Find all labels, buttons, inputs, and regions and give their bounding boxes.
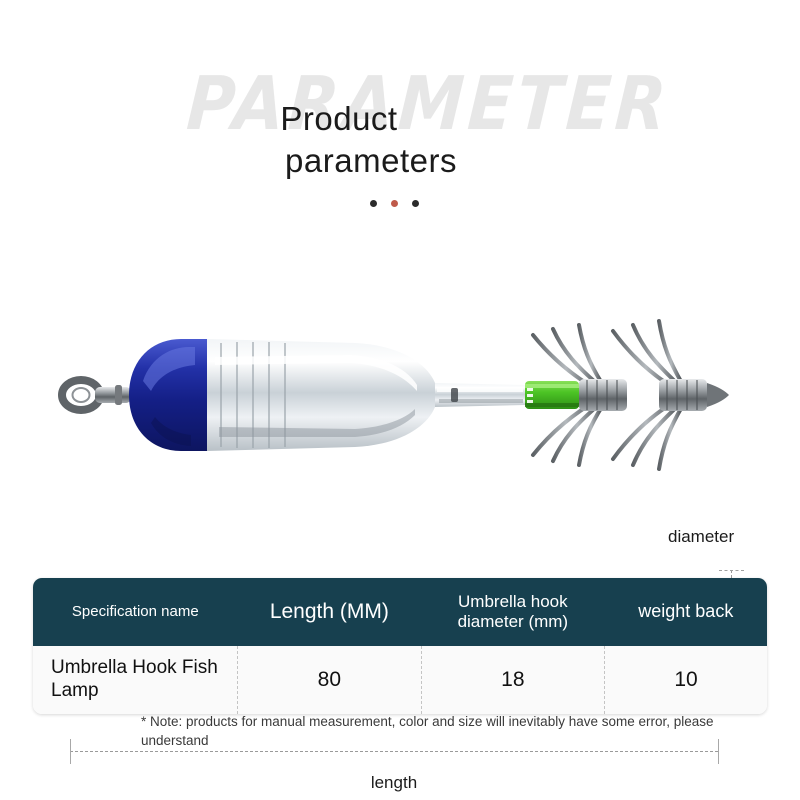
clear-ribbed-body — [207, 339, 435, 451]
eyelet-ring — [62, 380, 131, 410]
product-parameters-page: PARAMETER Product parameters — [0, 0, 800, 800]
diameter-cap-top — [719, 570, 744, 571]
page-title-line-2: parameters — [0, 140, 800, 182]
product-figure: diameter length — [0, 255, 800, 555]
table-body: Umbrella Hook Fish Lamp 80 18 10 — [33, 646, 767, 714]
decorative-dots — [0, 200, 800, 207]
specification-table: Specification name Length (MM) Umbrella … — [33, 578, 767, 714]
dot-right — [412, 200, 419, 207]
page-header: PARAMETER Product parameters — [0, 40, 800, 230]
green-band — [525, 381, 579, 409]
dot-center-accent — [391, 200, 398, 207]
table-header: Specification name Length (MM) Umbrella … — [33, 578, 767, 646]
length-cap-left — [70, 739, 71, 764]
squid-jig-lure-illustration — [55, 295, 745, 495]
page-title: Product parameters — [0, 98, 800, 182]
diameter-dimension-label: diameter — [668, 527, 734, 547]
column-header-length: Length (MM) — [238, 578, 422, 646]
column-header-specification-name: Specification name — [33, 578, 238, 646]
measurement-note: * Note: products for manual measurement,… — [141, 712, 741, 750]
lure-neck — [435, 383, 525, 407]
column-header-umbrella-hook-diameter: Umbrella hook diameter (mm) — [421, 578, 605, 646]
column-header-weight-back: weight back — [605, 578, 767, 646]
cell-specification-name: Umbrella Hook Fish Lamp — [33, 646, 238, 714]
length-dimension-line — [70, 751, 718, 752]
cell-weight-value: 10 — [605, 646, 767, 714]
umbrella-hook-crown-rear — [613, 321, 729, 469]
table-row: Umbrella Hook Fish Lamp 80 18 10 — [33, 646, 767, 714]
length-dimension-label: length — [0, 773, 788, 793]
specification-table-wrapper: Specification name Length (MM) Umbrella … — [33, 578, 767, 714]
dot-left — [370, 200, 377, 207]
cell-diameter-value: 18 — [421, 646, 605, 714]
blue-led-dome — [129, 339, 207, 451]
table-header-row: Specification name Length (MM) Umbrella … — [33, 578, 767, 646]
page-title-line-1: Product — [0, 98, 800, 140]
cell-length-value: 80 — [238, 646, 422, 714]
